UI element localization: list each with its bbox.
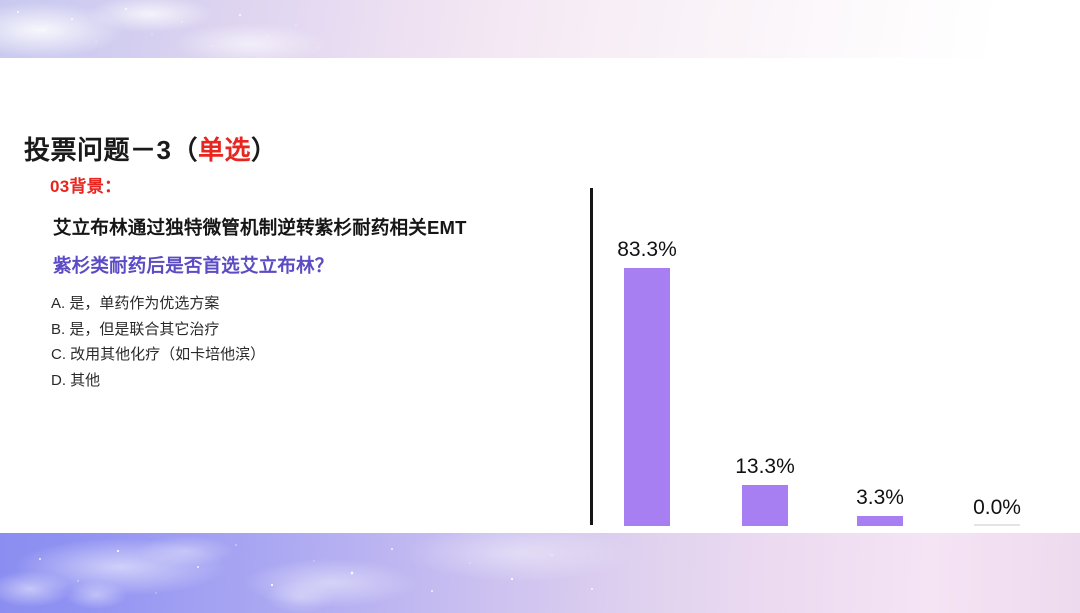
top-decoration-banner <box>0 0 1080 58</box>
bar-d-wrap: 0.0% <box>951 216 1043 526</box>
page-title: 投票问题－3（单选） <box>24 130 278 167</box>
page-title-main: 投票问题－3（ <box>24 135 198 165</box>
y-axis-line <box>590 188 593 525</box>
bar-column-c: 3.3% C <box>834 183 926 526</box>
list-item[interactable]: D. 其他 <box>51 368 265 394</box>
list-item[interactable]: B. 是，但是联合其它治疗 <box>51 317 265 343</box>
bar-c[interactable] <box>857 516 903 526</box>
bar-a-wrap: 83.3% <box>601 216 693 526</box>
list-item[interactable]: A. 是，单药作为优选方案 <box>51 291 265 317</box>
content-card: 投票问题－3（单选） 03背景： 艾立布林通过独特微管机制逆转紫杉耐药相关EMT… <box>0 58 1080 533</box>
option-list: A. 是，单药作为优选方案 B. 是，但是联合其它治疗 C. 改用其他化疗（如卡… <box>51 291 265 393</box>
list-item[interactable]: C. 改用其他化疗（如卡培他滨） <box>51 342 265 368</box>
background-label: 03背景： <box>50 172 121 197</box>
poll-results-bar-chart: 83.3% A 13.3% B 3.3% C <box>575 183 1055 558</box>
bar-a[interactable] <box>624 268 670 526</box>
bar-d-value: 0.0% <box>973 496 1021 520</box>
poll-slide: 投票问题－3（单选） 03背景： 艾立布林通过独特微管机制逆转紫杉耐药相关EMT… <box>0 0 1080 613</box>
bar-d[interactable] <box>974 524 1020 526</box>
bar-a-value: 83.3% <box>617 238 677 262</box>
question-text: 紫杉类耐药后是否首选艾立布林？ <box>53 252 334 278</box>
bar-b-wrap: 13.3% <box>719 216 811 526</box>
bar-column-b: 13.3% B <box>719 183 811 526</box>
bar-c-value: 3.3% <box>856 486 904 510</box>
bar-column-d: 0.0% D <box>951 183 1043 526</box>
page-title-tail: ） <box>251 135 278 165</box>
bottom-decoration-banner <box>0 533 1080 613</box>
page-title-accent: 单选 <box>198 135 251 165</box>
bar-b[interactable] <box>742 485 788 526</box>
bar-c-wrap: 3.3% <box>834 216 926 526</box>
bar-b-value: 13.3% <box>735 455 795 479</box>
statement-text: 艾立布林通过独特微管机制逆转紫杉耐药相关EMT <box>53 214 467 240</box>
bar-column-a: 83.3% A <box>601 183 693 526</box>
